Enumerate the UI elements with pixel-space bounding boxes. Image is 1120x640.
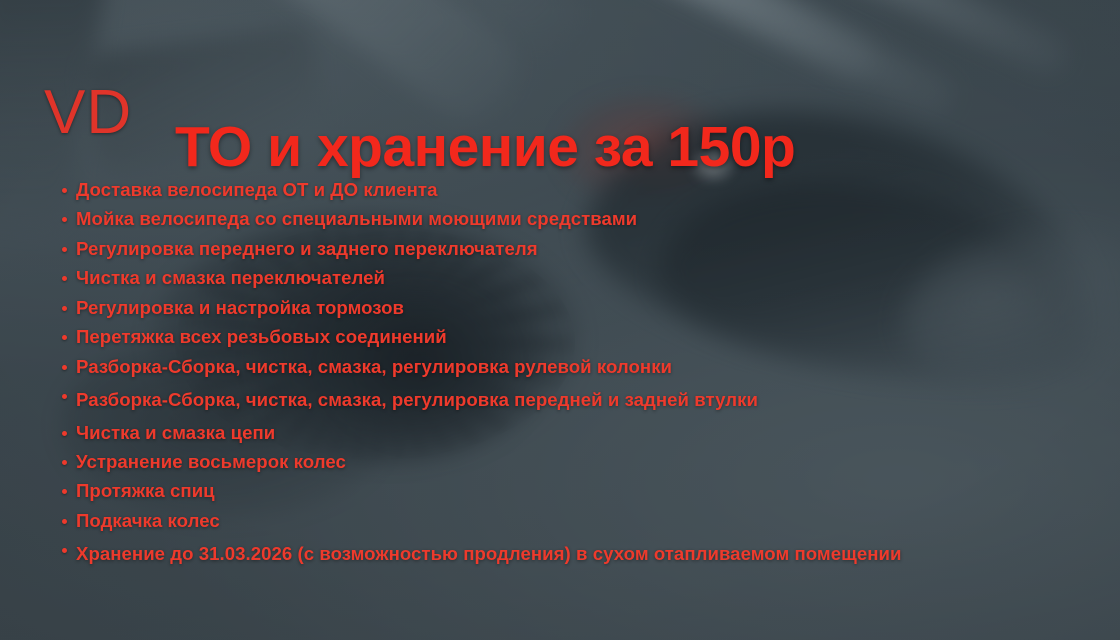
service-list-item: Разборка-Сборка, чистка, смазка, регулир… <box>62 357 1072 378</box>
slide-content: VD ТО и хранение за 150р Доставка велоси… <box>0 0 1120 640</box>
service-list-item: Чистка и смазка переключателей <box>62 268 1072 289</box>
service-list-item: Устранение восьмерок колес <box>62 452 1072 473</box>
promo-slide: VD ТО и хранение за 150р Доставка велоси… <box>0 0 1120 640</box>
service-list: Доставка велосипеда ОТ и ДО клиентаМойка… <box>62 180 1072 577</box>
service-list-item: Мойка велосипеда со специальными моющими… <box>62 209 1072 230</box>
brand-logo: VD <box>44 82 132 144</box>
service-list-item: Подкачка колес <box>62 511 1072 532</box>
service-list-item: Регулировка переднего и заднего переключ… <box>62 239 1072 260</box>
service-list-item: Перетяжка всех резьбовых соединений <box>62 327 1072 348</box>
slide-title: ТО и хранение за 150р <box>175 118 795 178</box>
service-list-item: Разборка-Сборка, чистка, смазка, регулир… <box>62 386 1072 414</box>
service-list-item: Доставка велосипеда ОТ и ДО клиента <box>62 180 1072 201</box>
service-list-item: Регулировка и настройка тормозов <box>62 298 1072 319</box>
service-list-item: Чистка и смазка цепи <box>62 423 1072 444</box>
service-list-item: Хранение до 31.03.2026 (с возможностью п… <box>62 540 1072 568</box>
service-list-item: Протяжка спиц <box>62 481 1072 502</box>
